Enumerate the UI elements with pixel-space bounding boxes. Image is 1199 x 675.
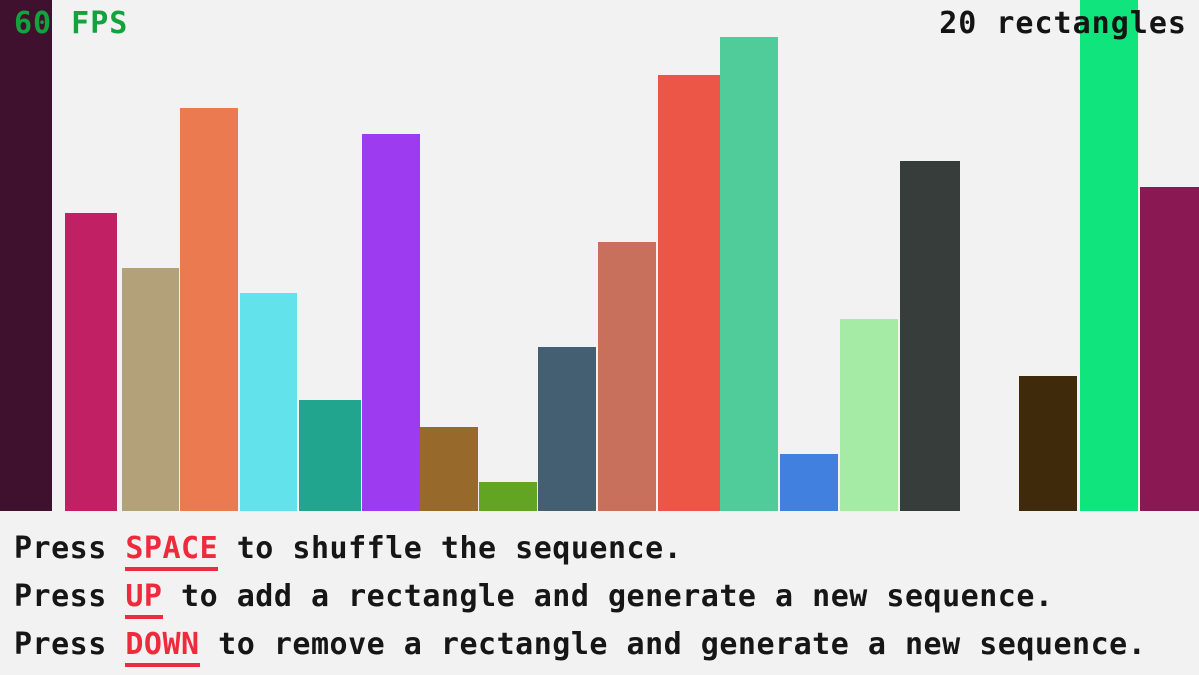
instruction-suffix: to remove a rectangle and generate a new… bbox=[200, 627, 1147, 662]
chart-bar bbox=[0, 0, 52, 511]
chart-bar bbox=[1140, 187, 1199, 511]
instruction-line: Press SPACE to shuffle the sequence. bbox=[14, 525, 1199, 573]
instruction-suffix: to add a rectangle and generate a new se… bbox=[163, 579, 1054, 614]
chart-bar bbox=[780, 454, 838, 511]
chart-bar bbox=[1019, 376, 1077, 511]
rectangle-count-label: 20 rectangles bbox=[939, 8, 1187, 40]
chart-bar bbox=[180, 108, 238, 511]
chart-bar bbox=[900, 161, 960, 511]
chart-bar bbox=[1080, 0, 1138, 511]
chart-bar bbox=[538, 347, 596, 511]
chart-bar bbox=[840, 319, 898, 511]
instructions-panel: Press SPACE to shuffle the sequence.Pres… bbox=[0, 511, 1199, 675]
chart-bar bbox=[479, 482, 537, 511]
chart-bar bbox=[598, 242, 656, 511]
instruction-prefix: Press bbox=[14, 531, 125, 566]
instruction-key-space[interactable]: SPACE bbox=[125, 531, 218, 571]
chart-bar bbox=[720, 37, 778, 511]
bar-chart bbox=[0, 0, 1199, 511]
chart-bar bbox=[240, 293, 297, 511]
chart-bar bbox=[65, 213, 117, 511]
instruction-key-down[interactable]: DOWN bbox=[125, 627, 199, 667]
chart-bar bbox=[122, 268, 179, 511]
instruction-line: Press DOWN to remove a rectangle and gen… bbox=[14, 621, 1199, 669]
instruction-suffix: to shuffle the sequence. bbox=[218, 531, 682, 566]
chart-bar bbox=[299, 400, 361, 511]
fps-counter: 60 FPS bbox=[14, 8, 128, 40]
instruction-key-up[interactable]: UP bbox=[125, 579, 162, 619]
instruction-prefix: Press bbox=[14, 579, 125, 614]
instruction-line: Press UP to add a rectangle and generate… bbox=[14, 573, 1199, 621]
chart-bar bbox=[658, 75, 720, 511]
game-canvas: 60 FPS 20 rectangles Press SPACE to shuf… bbox=[0, 0, 1199, 675]
chart-bar bbox=[362, 134, 420, 511]
chart-bar bbox=[420, 427, 478, 511]
instruction-prefix: Press bbox=[14, 627, 125, 662]
